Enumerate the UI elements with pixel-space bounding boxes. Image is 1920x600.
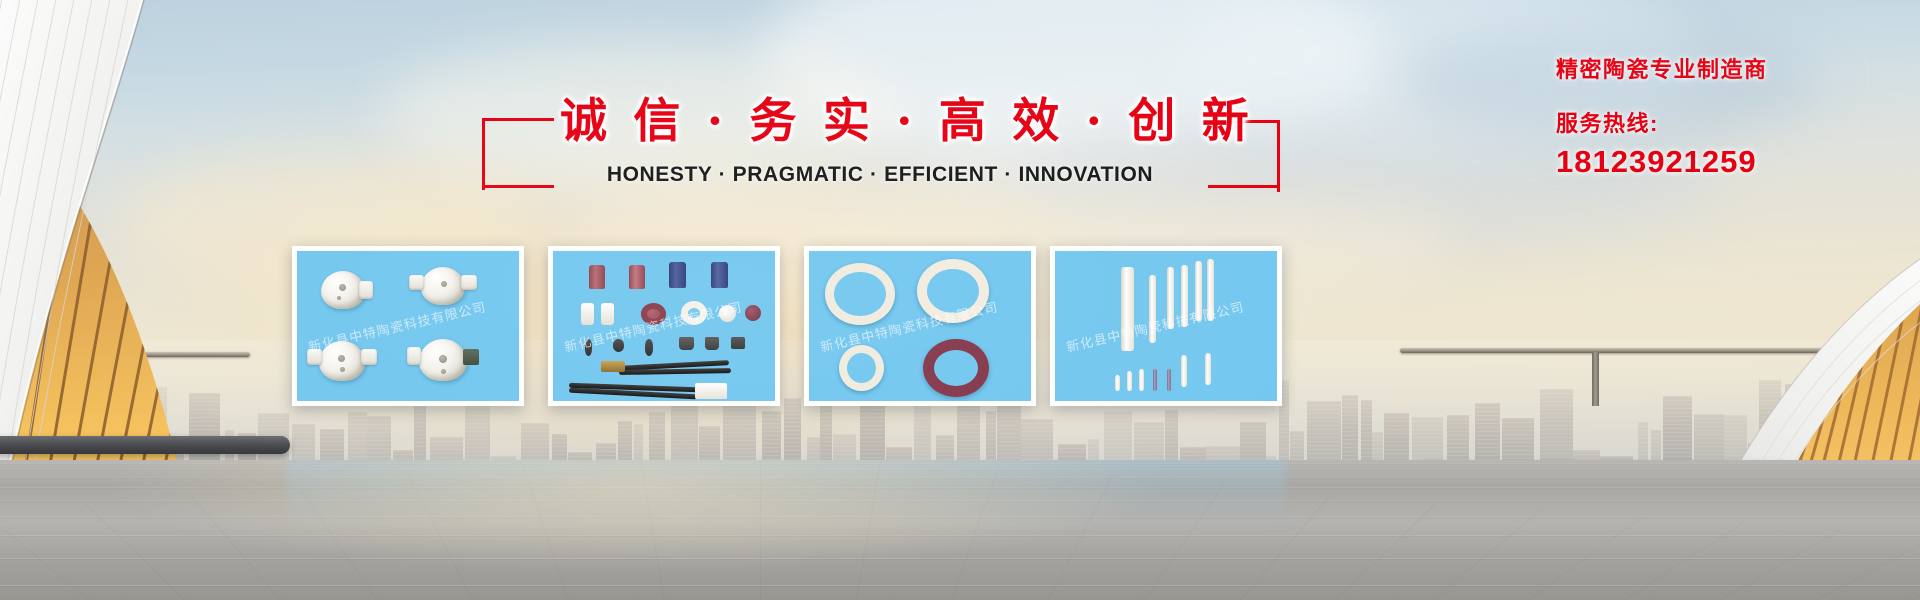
plaza-floor — [0, 460, 1920, 600]
slogan-block: 诚 信 · 务 实 · 高 效 · 创 新 HONESTY · PRAGMATI… — [560, 96, 1200, 187]
bracket-top-left — [482, 118, 554, 190]
company-tagline: 精密陶瓷专业制造商 — [1556, 52, 1896, 84]
product-panel-ceramic-rods-and-tubes[interactable]: 新化县中特陶瓷科技有限公司 — [1050, 246, 1282, 406]
promotional-banner: 诚 信 · 务 实 · 高 效 · 创 新 HONESTY · PRAGMATI… — [0, 0, 1920, 600]
panel-photo: 新化县中特陶瓷科技有限公司 — [809, 251, 1031, 401]
product-panel-ceramic-lamp-holder-sockets[interactable]: 新化县中特陶瓷科技有限公司 — [292, 246, 524, 406]
product-panel-row: 新化县中特陶瓷科技有限公司 — [292, 246, 1292, 406]
bracket-bottom-left — [482, 185, 554, 188]
bench-beam-left — [0, 436, 290, 454]
contact-block: 精密陶瓷专业制造商 服务热线: 18123921259 — [1556, 52, 1896, 180]
hotline-number: 18123921259 — [1556, 144, 1896, 180]
panel-photo: 新化县中特陶瓷科技有限公司 — [553, 251, 775, 401]
bracket-bottom-right — [1208, 185, 1280, 188]
slogan-english: HONESTY · PRAGMATIC · EFFICIENT · INNOVA… — [560, 163, 1200, 187]
panel-photo: 新化县中特陶瓷科技有限公司 — [1055, 251, 1277, 401]
hotline-label: 服务热线: — [1556, 106, 1896, 138]
product-panel-ceramic-insulator-components[interactable]: 新化县中特陶瓷科技有限公司 — [548, 246, 780, 406]
floor-sunlight-glow — [0, 460, 1920, 600]
slogan-chinese: 诚 信 · 务 实 · 高 效 · 创 新 — [560, 96, 1200, 149]
panel-photo: 新化县中特陶瓷科技有限公司 — [297, 251, 519, 401]
product-panel-ceramic-sealing-rings[interactable]: 新化县中特陶瓷科技有限公司 — [804, 246, 1036, 406]
